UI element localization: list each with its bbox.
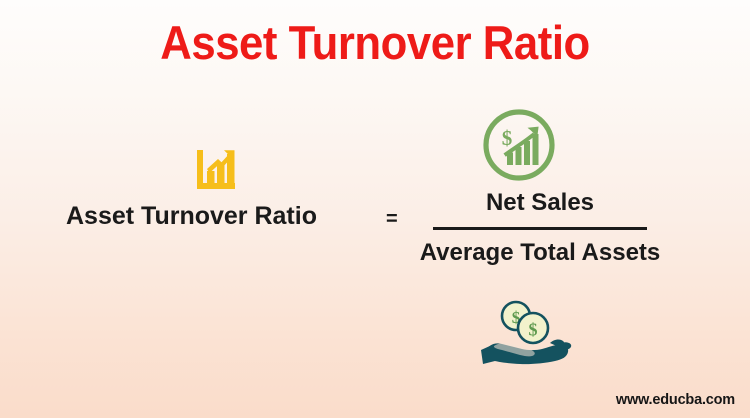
svg-text:$: $ xyxy=(502,126,513,150)
bar-chart-growth-icon xyxy=(194,148,238,192)
svg-text:$: $ xyxy=(529,320,538,340)
infographic-canvas: Asset Turnover Ratio Asset Turnover Rati… xyxy=(0,0,750,418)
fraction-denominator: Average Total Assets xyxy=(415,236,665,269)
dollar-growth-circle-icon: $ xyxy=(481,107,557,183)
formula-left-label: Asset Turnover Ratio xyxy=(66,200,376,233)
page-title: Asset Turnover Ratio xyxy=(26,14,724,72)
formula-fraction: Net Sales Average Total Assets xyxy=(415,186,665,269)
footer-website-url: www.educba.com xyxy=(616,391,735,409)
fraction-numerator: Net Sales xyxy=(415,186,665,219)
fraction-divider-line xyxy=(433,227,647,230)
equals-sign: = xyxy=(386,206,398,232)
hand-holding-coins-icon: $ $ xyxy=(478,292,574,374)
